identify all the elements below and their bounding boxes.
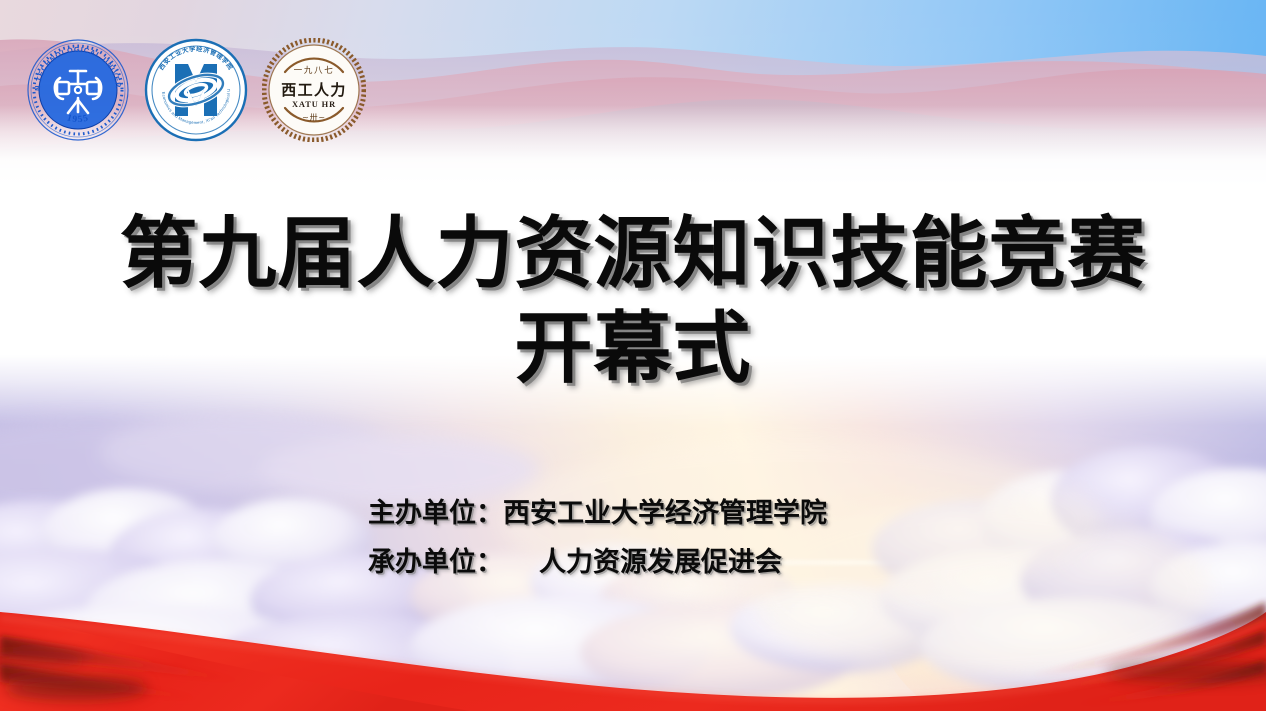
school-of-economics-and-management-logo: 西安工业大学经济管理学院 School of Economics and Man… [144, 38, 248, 142]
co-organizer-row: 承办单位： 人力资源发展促进会 [368, 549, 988, 576]
seal-title-en: XATU HR [292, 100, 336, 109]
credits-block: 主办单位： 西安工业大学经济管理学院 承办单位： 人力资源发展促进会 [368, 500, 988, 598]
co-organizer-label: 承办单位： [368, 549, 503, 576]
page-title: 第九届人力资源知识技能竞赛 开幕式 [0, 207, 1266, 397]
organizer-row: 主办单位： 西安工业大学经济管理学院 [368, 500, 988, 527]
seal-ornament: ~卅~ [302, 113, 326, 122]
title-line-1: 第九届人力资源知识技能竞赛 [0, 207, 1266, 302]
seal-title-cn: 西工人力 [281, 81, 347, 99]
title-slide: XI'AN TECHNOLOGICAL UNIVERSITY 1955 [0, 0, 1266, 711]
organizer-value: 西安工业大学经济管理学院 [503, 500, 827, 527]
xian-technological-university-seal-logo: XI'AN TECHNOLOGICAL UNIVERSITY 1955 [26, 38, 130, 142]
title-line-2: 开幕式 [0, 302, 1266, 397]
logo-row: XI'AN TECHNOLOGICAL UNIVERSITY 1955 [26, 38, 366, 142]
xatu-hr-association-logo: 一九八七 西工人力 XATU HR ~卅~ [262, 38, 366, 142]
co-organizer-value: 人力资源发展促进会 [503, 549, 782, 576]
organizer-label: 主办单位： [368, 500, 503, 527]
seal-year-cn: 一九八七 [294, 65, 335, 76]
